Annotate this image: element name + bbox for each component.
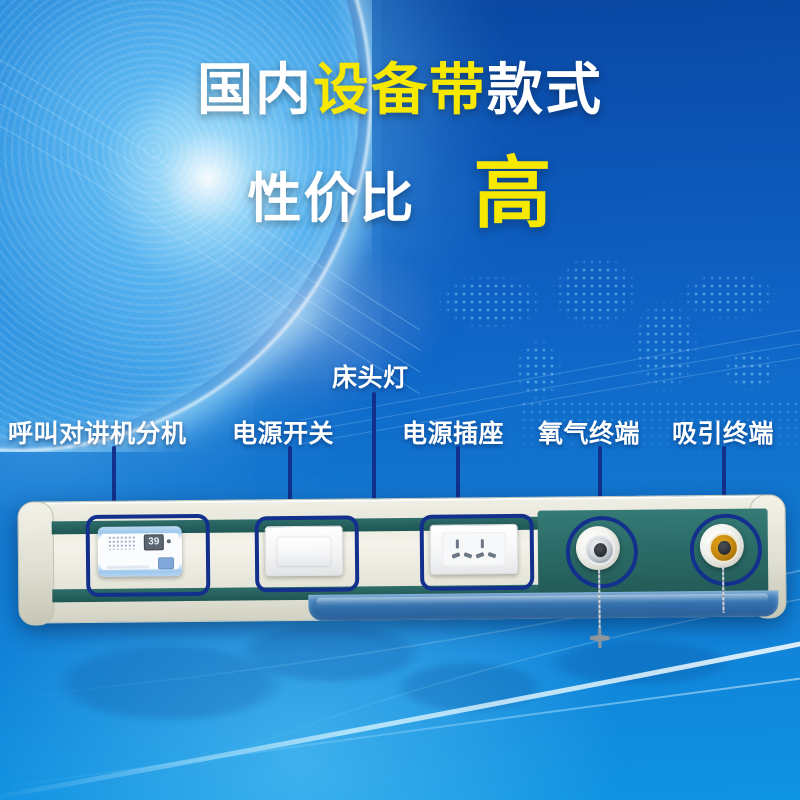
highlight-box-oxygen [566,516,639,589]
bed-lamp-strip[interactable] [308,590,778,621]
headline-line2-accent: 高 [473,156,552,230]
headline-line1-suffix: 款式 [487,58,603,121]
promo-banner: 国内设备带款式 性价比 高 呼叫对讲机分机 电源开关 床头灯 电源插座 氧气终端… [0,0,800,800]
headline-line1-prefix: 国内 [197,58,313,121]
callout-label-oxygen: 氧气终端 [538,414,640,450]
headline-line2-main: 性价比 [247,154,415,233]
bed-head-unit-panel: 39 [17,494,786,623]
highlight-box-intercom [86,514,211,597]
bottom-continent-silhouette [0,625,800,775]
callout-label-intercom: 呼叫对讲机分机 [8,414,187,450]
callout-label-power-socket: 电源插座 [402,414,504,450]
bed-lamp-gloss [316,593,768,605]
highlight-box-power-switch [255,515,360,592]
highlight-box-power-socket [420,514,535,591]
headline-line-1: 国内设备带款式 [0,62,800,118]
callout-label-power-switch: 电源开关 [232,414,334,450]
panel-end-cap-left [17,501,54,625]
suction-pull-chain[interactable] [722,567,724,613]
highlight-box-suction [690,514,763,587]
headline-line-2: 性价比 高 [0,154,800,233]
callout-label-bed-lamp: 床头灯 [332,358,409,394]
headline-line1-highlight: 设备带 [313,58,487,121]
callout-label-suction: 吸引终端 [672,414,774,450]
headline-block: 国内设备带款式 性价比 高 [0,62,800,242]
